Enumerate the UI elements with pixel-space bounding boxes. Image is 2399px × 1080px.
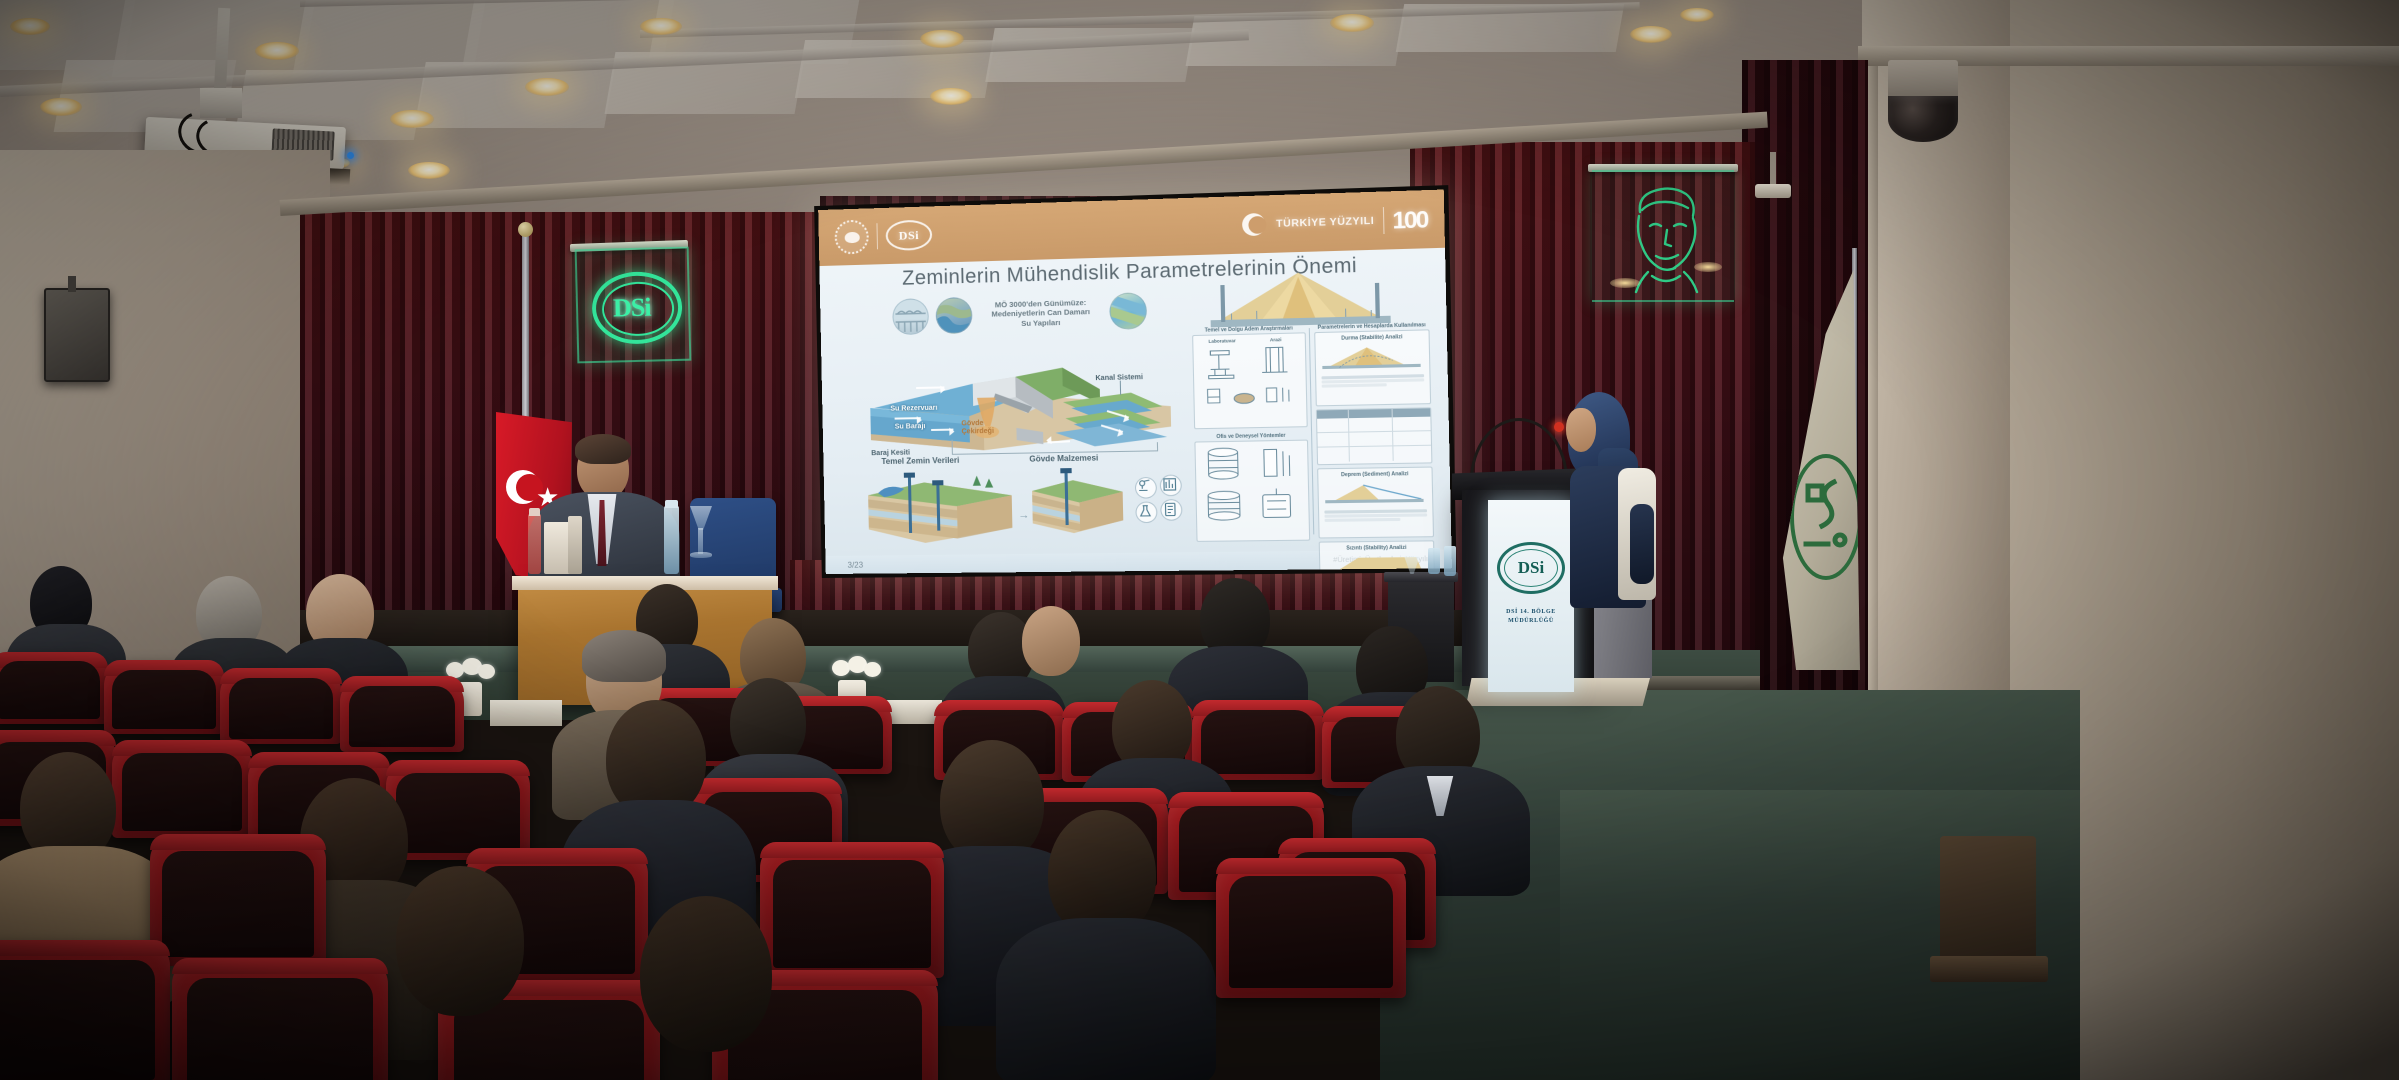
podium-caption-line-1: DSİ 14. BÖLGE [1506,608,1556,617]
crescent-moon-icon [1240,211,1268,239]
aqueduct-thumbnail [892,298,929,335]
ceiling-downlight [408,162,450,179]
river-thumbnail [935,297,972,334]
ceiling-downlight [930,88,972,105]
security-camera-dome [1888,96,1958,142]
attendee-torso [996,918,1216,1080]
side-table-white [490,700,562,726]
ataturk-panel-downlight [1694,262,1722,272]
lab-test-icon [1135,501,1157,523]
projection-screen: DSi TÜRKİYE YÜZYILI 100 Zeminlerin Mühen… [818,190,1452,574]
attendee-head [640,896,772,1052]
attendee-head [396,866,524,1016]
theater-seat[interactable] [0,652,108,724]
theater-seat[interactable] [112,740,252,838]
dsi-illuminated-sign: DSi [575,247,692,364]
water-bottle[interactable] [528,514,541,574]
ceiling-downlight [1630,26,1672,43]
moderator-hair [575,434,631,464]
lab-test-icon [1160,475,1182,497]
podium-display-screen: DSi DSİ 14. BÖLGE MÜDÜRLÜĞÜ [1488,500,1574,692]
conference-hall-photo: DSi [0,0,2399,1080]
soil-sample-icon [1230,384,1259,407]
lab-test-icon [1135,477,1157,499]
logo-divider [1382,207,1384,234]
field-equipment-icon [1249,343,1300,379]
ataturk-panel-downlight [1610,278,1640,288]
podium-caption: DSİ 14. BÖLGE MÜDÜRLÜĞÜ [1506,608,1556,626]
beaker-icon [1199,384,1228,407]
slide-subtitle-row: MÖ 3000'den Günümüze: Medeniyetlerin Can… [892,288,1200,339]
wall-light-fitting [1755,184,1791,198]
podium-dsi-logo: DSi [1497,542,1565,594]
label-body-material: Gövde Malzemesi [1029,453,1098,463]
wall-light-fitting [1770,152,1776,186]
parameters-table-card [1316,407,1433,465]
analysis-left-column: Temel ve Dolgu Adem Araştırmaları Labora… [1192,324,1310,542]
stability-analysis-card: Durma (Stabilite) Analizi [1314,329,1431,406]
theater-seat[interactable] [0,940,170,1080]
theater-seat[interactable] [104,660,224,734]
speaker-arm [1630,504,1654,584]
speaker-bracket [68,276,76,292]
card-text-row [1325,518,1401,522]
seepage-diagram-icon [1321,478,1428,504]
flow-arrow [916,386,944,389]
slide-header-right-logos: TÜRKİYE YÜZYILI 100 [1240,205,1427,239]
water-bottle[interactable] [664,506,679,574]
dsi-flag-emblem [1790,454,1862,580]
white-flower [478,664,495,679]
water-bottle[interactable] [1444,546,1456,576]
theater-seat[interactable] [150,834,326,966]
centenary-label: TÜRKİYE YÜZYILI [1276,215,1374,229]
attendee-head [1022,606,1080,676]
flow-arrow [931,429,953,431]
consolidation-cell-icon [1252,486,1304,526]
analysis-panel: Temel ve Dolgu Adem Araştırmaları Labora… [1189,263,1439,544]
ceiling-downlight [920,30,964,48]
wooden-aisle-chair-seat[interactable] [1930,956,2048,982]
speaker-face [1566,408,1596,452]
foundation-data-group: Temel Zemin Verileri [863,455,1017,552]
dsi-flag-emblem-svg [1794,458,1858,576]
permeability-icon [1260,383,1301,406]
ministry-seal-icon [834,219,869,254]
sample-rings-icon [1199,487,1250,527]
body-material-block-svg [1027,465,1127,542]
theater-seat[interactable] [760,842,944,978]
water-bottle[interactable] [1428,548,1440,574]
theater-seat[interactable] [220,668,342,744]
wall-speaker [44,288,110,382]
ceiling-downlight [40,98,82,116]
label-reservoir: Su Rezervuarı [890,405,937,413]
projector-status-led [347,152,354,159]
bottle-cap[interactable] [665,500,678,508]
dsi-logo-icon: DSi [885,219,932,251]
centenary-number: 100 [1392,205,1427,234]
label-canal-system: Kanal Sistemi [1095,374,1143,382]
ceiling-downlight [1680,8,1714,22]
attendee-hair [582,630,666,682]
card-text-row [1322,383,1387,387]
lab-test-icon [1160,499,1182,521]
flow-arrow [895,417,921,420]
podium-caption-line-2: MÜDÜRLÜĞÜ [1506,617,1556,626]
ceiling-downlight [640,18,682,35]
hand-sanitizer[interactable] [568,516,582,574]
flagpole-finial [518,222,533,237]
ceiling-downlight [10,18,50,35]
white-flower [864,662,881,677]
label-foundation-data: Temel Zemin Verileri [881,456,959,466]
ceiling-downlight [255,42,299,60]
analysis-right-column: Parametrelerin ve Hesaplarda Kullanılmas… [1314,321,1435,574]
theater-seat[interactable] [172,958,388,1080]
lab-equipment-icon [1195,344,1246,380]
logo-divider [876,223,878,249]
drinking-glass-base[interactable] [690,552,712,558]
body-material-group: Gövde Malzemesi [1027,452,1184,550]
bottle-cap[interactable] [529,508,540,516]
stability-diagram-icon [1318,341,1425,370]
dsi-logo-oval-outer: DSi [591,271,683,345]
dsi-sign-letters: DSi [613,293,651,324]
security-camera-mount [1888,60,1958,100]
ceiling-downlight [390,110,434,128]
label-dam-water: Su Barajı [895,423,926,431]
ceiling-downlight [525,78,569,96]
microphone-capsule [1554,422,1564,432]
sample-cylinder-icon [1198,444,1249,486]
slide-page-number: 3/23 [847,560,863,569]
theater-seat[interactable] [1192,700,1324,780]
slide-body: Zeminlerin Mühendislik Parametrelerinin … [819,248,1451,556]
theater-seat[interactable] [1216,858,1406,998]
slide-header-left-logos: DSi [834,217,932,254]
podium-dsi-logo-inner: DSi [1504,549,1558,587]
seepage-analysis-card: Deprem (Sediment) Analizi [1317,467,1434,539]
theater-seat[interactable] [340,676,464,752]
card-text-row [1324,513,1427,517]
ceiling-downlight [1330,14,1374,32]
drinking-glass-stem[interactable] [698,528,703,554]
head-table-top [512,576,778,590]
analysis-column-divider [1309,328,1315,534]
dam-crosssection-svg [1205,264,1397,329]
field-tests-card [1194,440,1310,542]
wooden-aisle-chair[interactable] [1940,836,2036,976]
foundation-soil-block-svg [864,467,1017,552]
lab-tests-card: Laboratuvar Arazi [1192,332,1308,429]
diagram-connector [1157,442,1158,451]
triaxial-test-icon [1251,443,1303,485]
label-core: Gövde Çekirdeği [961,420,996,436]
slide-subtitle: MÖ 3000'den Günümüze: Medeniyetlerin Can… [979,297,1103,329]
canal-thumbnail [1109,292,1147,330]
